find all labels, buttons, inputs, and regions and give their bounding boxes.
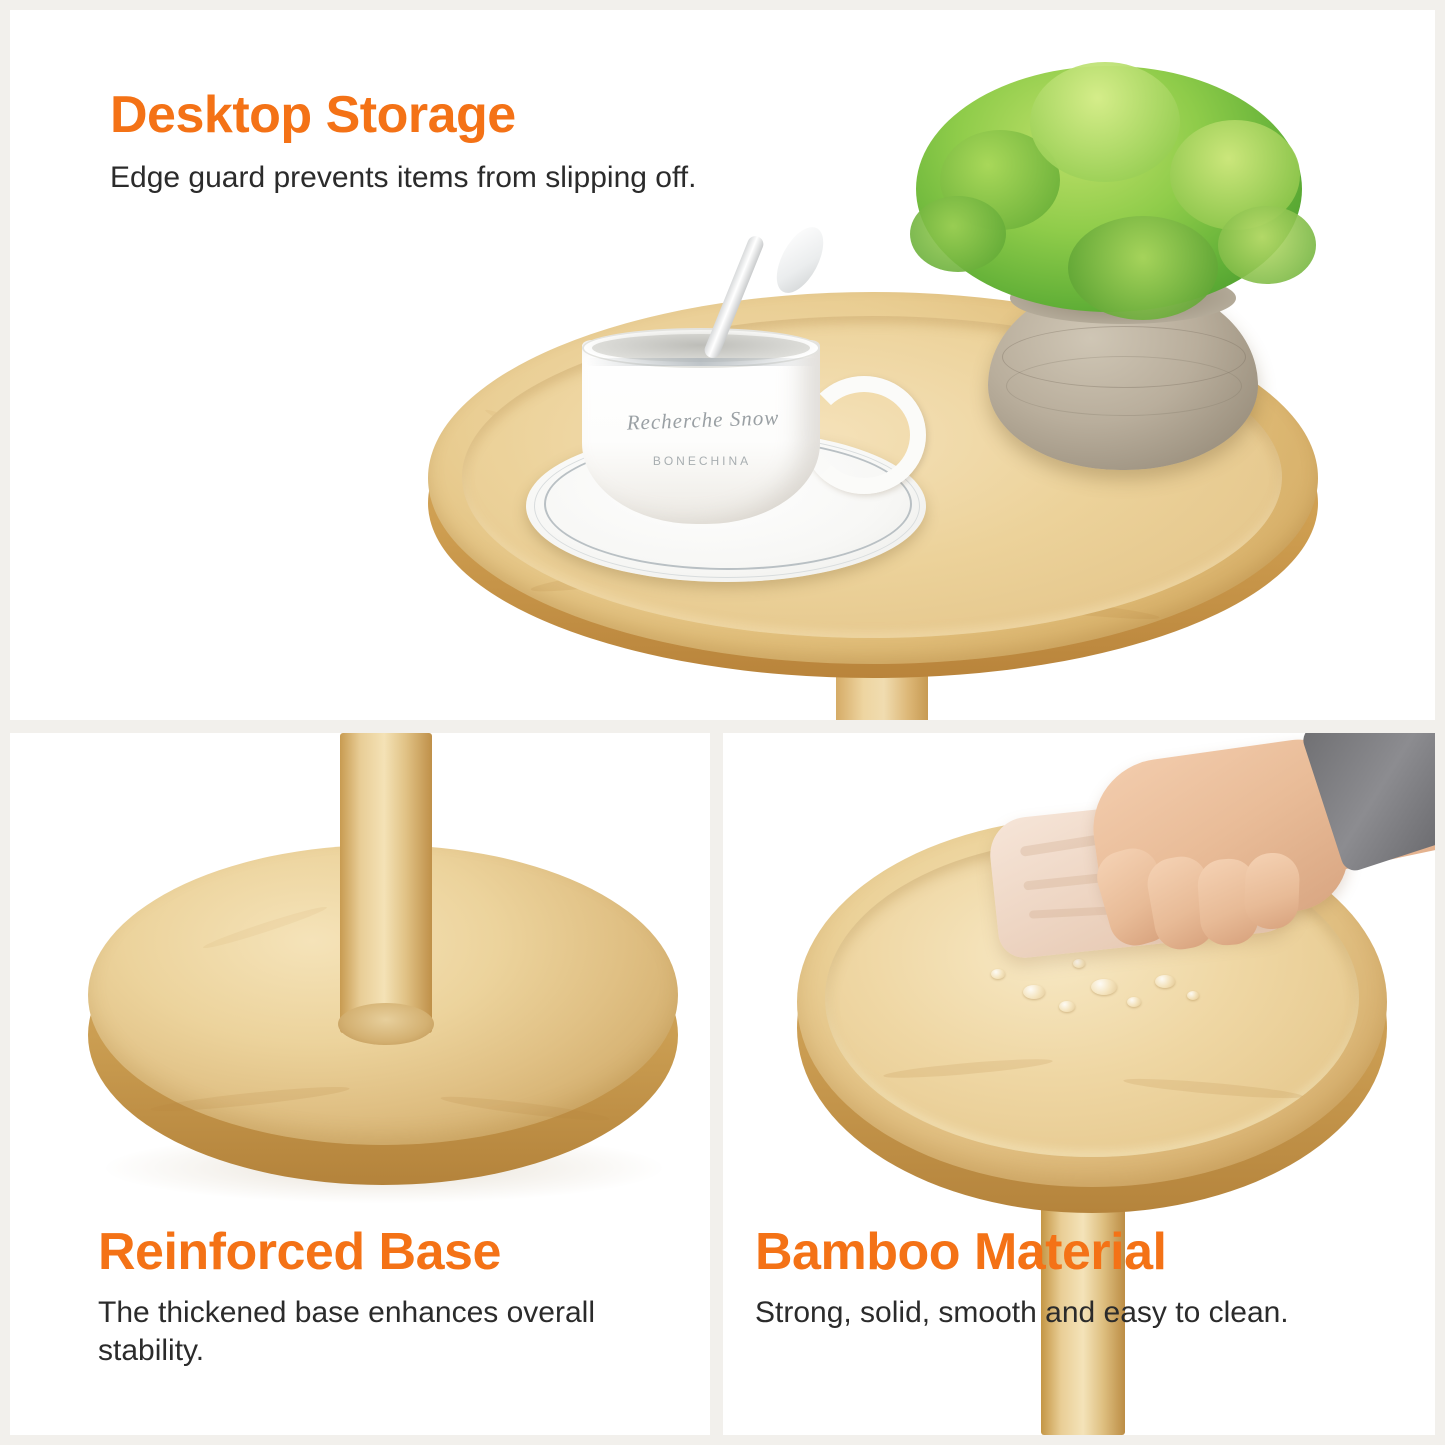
water-droplet	[1073, 959, 1085, 968]
plant-leaf-cluster	[910, 196, 1006, 272]
desktop-storage-headline: Desktop Storage	[110, 88, 696, 143]
product-infographic: Recherche Snow BONECHINA Desktop Storage…	[0, 0, 1445, 1445]
panel-gap-vertical	[710, 733, 723, 1435]
cup-handle	[802, 376, 926, 494]
panel-reinforced-base: Reinforced Base The thickened base enhan…	[10, 733, 710, 1435]
pot-texture-line	[1006, 356, 1242, 416]
water-droplet	[1187, 991, 1199, 1000]
center-post	[340, 733, 432, 1033]
bamboo-material-subline: Strong, solid, smooth and easy to clean.	[755, 1294, 1415, 1332]
reinforced-base-headline: Reinforced Base	[98, 1225, 698, 1280]
cup-silver-band	[586, 358, 816, 366]
reinforced-base-subline: The thickened base enhances overall stab…	[98, 1294, 698, 1371]
bamboo-material-headline: Bamboo Material	[755, 1225, 1415, 1280]
plant-leaf-cluster	[1030, 62, 1180, 182]
desktop-storage-subline: Edge guard prevents items from slipping …	[110, 159, 696, 197]
plant-leaf-cluster	[1218, 206, 1316, 284]
water-droplet	[1091, 979, 1117, 995]
water-droplet	[1023, 985, 1045, 999]
spoon-bowl	[767, 220, 833, 300]
water-droplet	[1127, 997, 1141, 1007]
panel-gap-horizontal	[10, 720, 1435, 733]
desktop-storage-text-block: Desktop Storage Edge guard prevents item…	[110, 88, 696, 197]
panel-desktop-storage: Recherche Snow BONECHINA Desktop Storage…	[10, 10, 1435, 720]
water-droplet	[991, 969, 1005, 979]
bamboo-material-text-block: Bamboo Material Strong, solid, smooth an…	[755, 1225, 1415, 1332]
post-foot-joint	[338, 1003, 434, 1045]
plant-leaf-cluster	[1068, 216, 1218, 320]
finger	[1244, 852, 1301, 930]
reinforced-base-text-block: Reinforced Base The thickened base enhan…	[98, 1225, 698, 1370]
water-droplet	[1155, 975, 1175, 988]
water-droplet	[1059, 1001, 1075, 1012]
cup-brand-subtext: BONECHINA	[622, 454, 782, 468]
panel-bamboo-material: Bamboo Material Strong, solid, smooth an…	[723, 733, 1435, 1435]
